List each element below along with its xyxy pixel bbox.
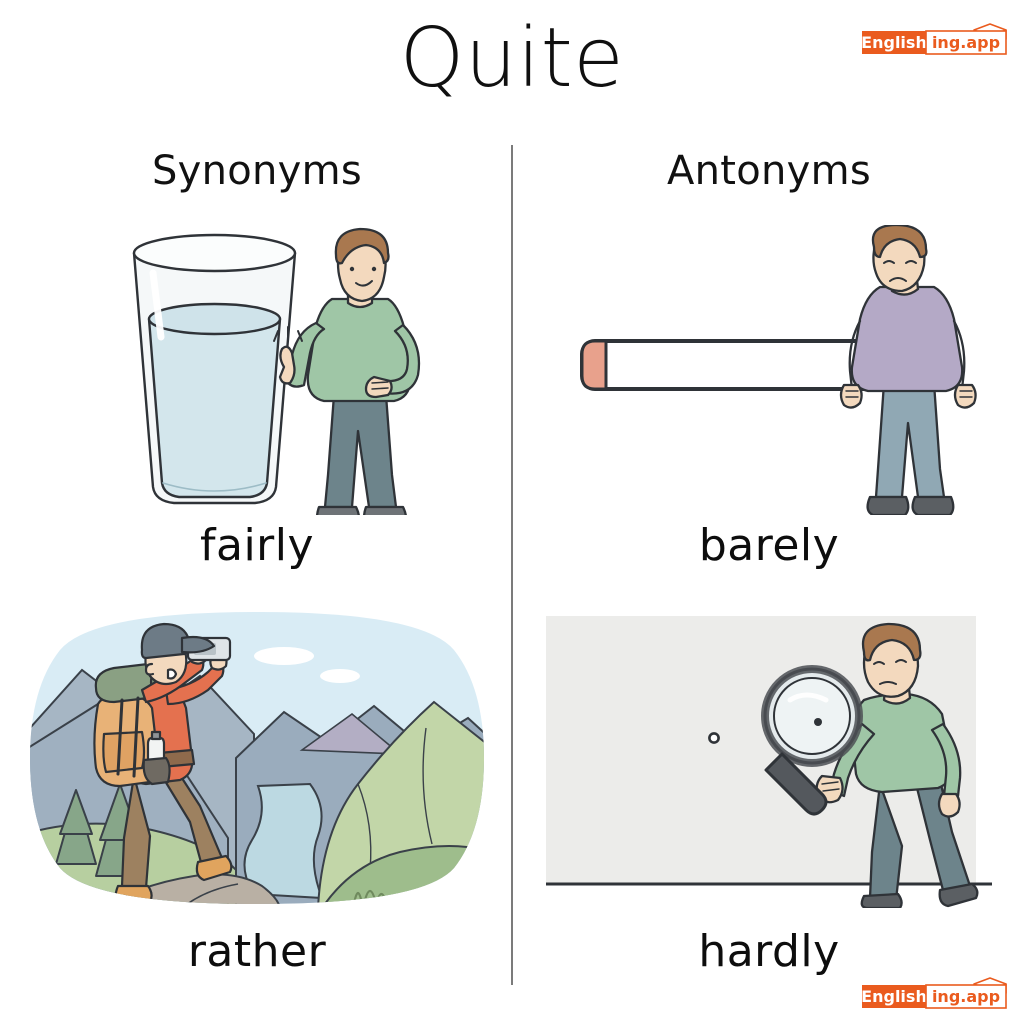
brand-part2-text: ing.app <box>932 987 1000 1006</box>
illustration-water-glass-thumbs-up <box>22 225 492 515</box>
synonyms-heading: Synonyms <box>22 148 492 194</box>
brand-logo-top[interactable]: English ing.app <box>862 22 1010 56</box>
column-divider <box>511 145 513 985</box>
entry-hardly: hardly <box>534 608 1004 998</box>
brand-part1-text: English <box>861 987 927 1006</box>
progress-bar <box>582 341 882 389</box>
entry-barely: barely <box>534 225 1004 595</box>
entry-fairly: fairly <box>22 225 492 595</box>
illustration-empty-progress-bar-sad-man <box>534 225 1004 515</box>
entry-rather: rather <box>22 608 492 998</box>
antonyms-heading: Antonyms <box>534 148 1004 194</box>
illustration-magnifying-glass-tiny-dot <box>534 608 1004 908</box>
illustration-hiker-mountain-valley <box>22 608 492 908</box>
word-label-hardly: hardly <box>534 926 1004 977</box>
tiny-dot <box>709 733 718 742</box>
word-label-rather: rather <box>22 926 492 977</box>
word-label-fairly: fairly <box>22 520 492 571</box>
word-label-barely: barely <box>534 520 1004 571</box>
brand-logo-bottom[interactable]: English ing.app <box>862 976 1010 1010</box>
brand-part1-text: English <box>861 33 927 52</box>
brand-part2-text: ing.app <box>932 33 1000 52</box>
